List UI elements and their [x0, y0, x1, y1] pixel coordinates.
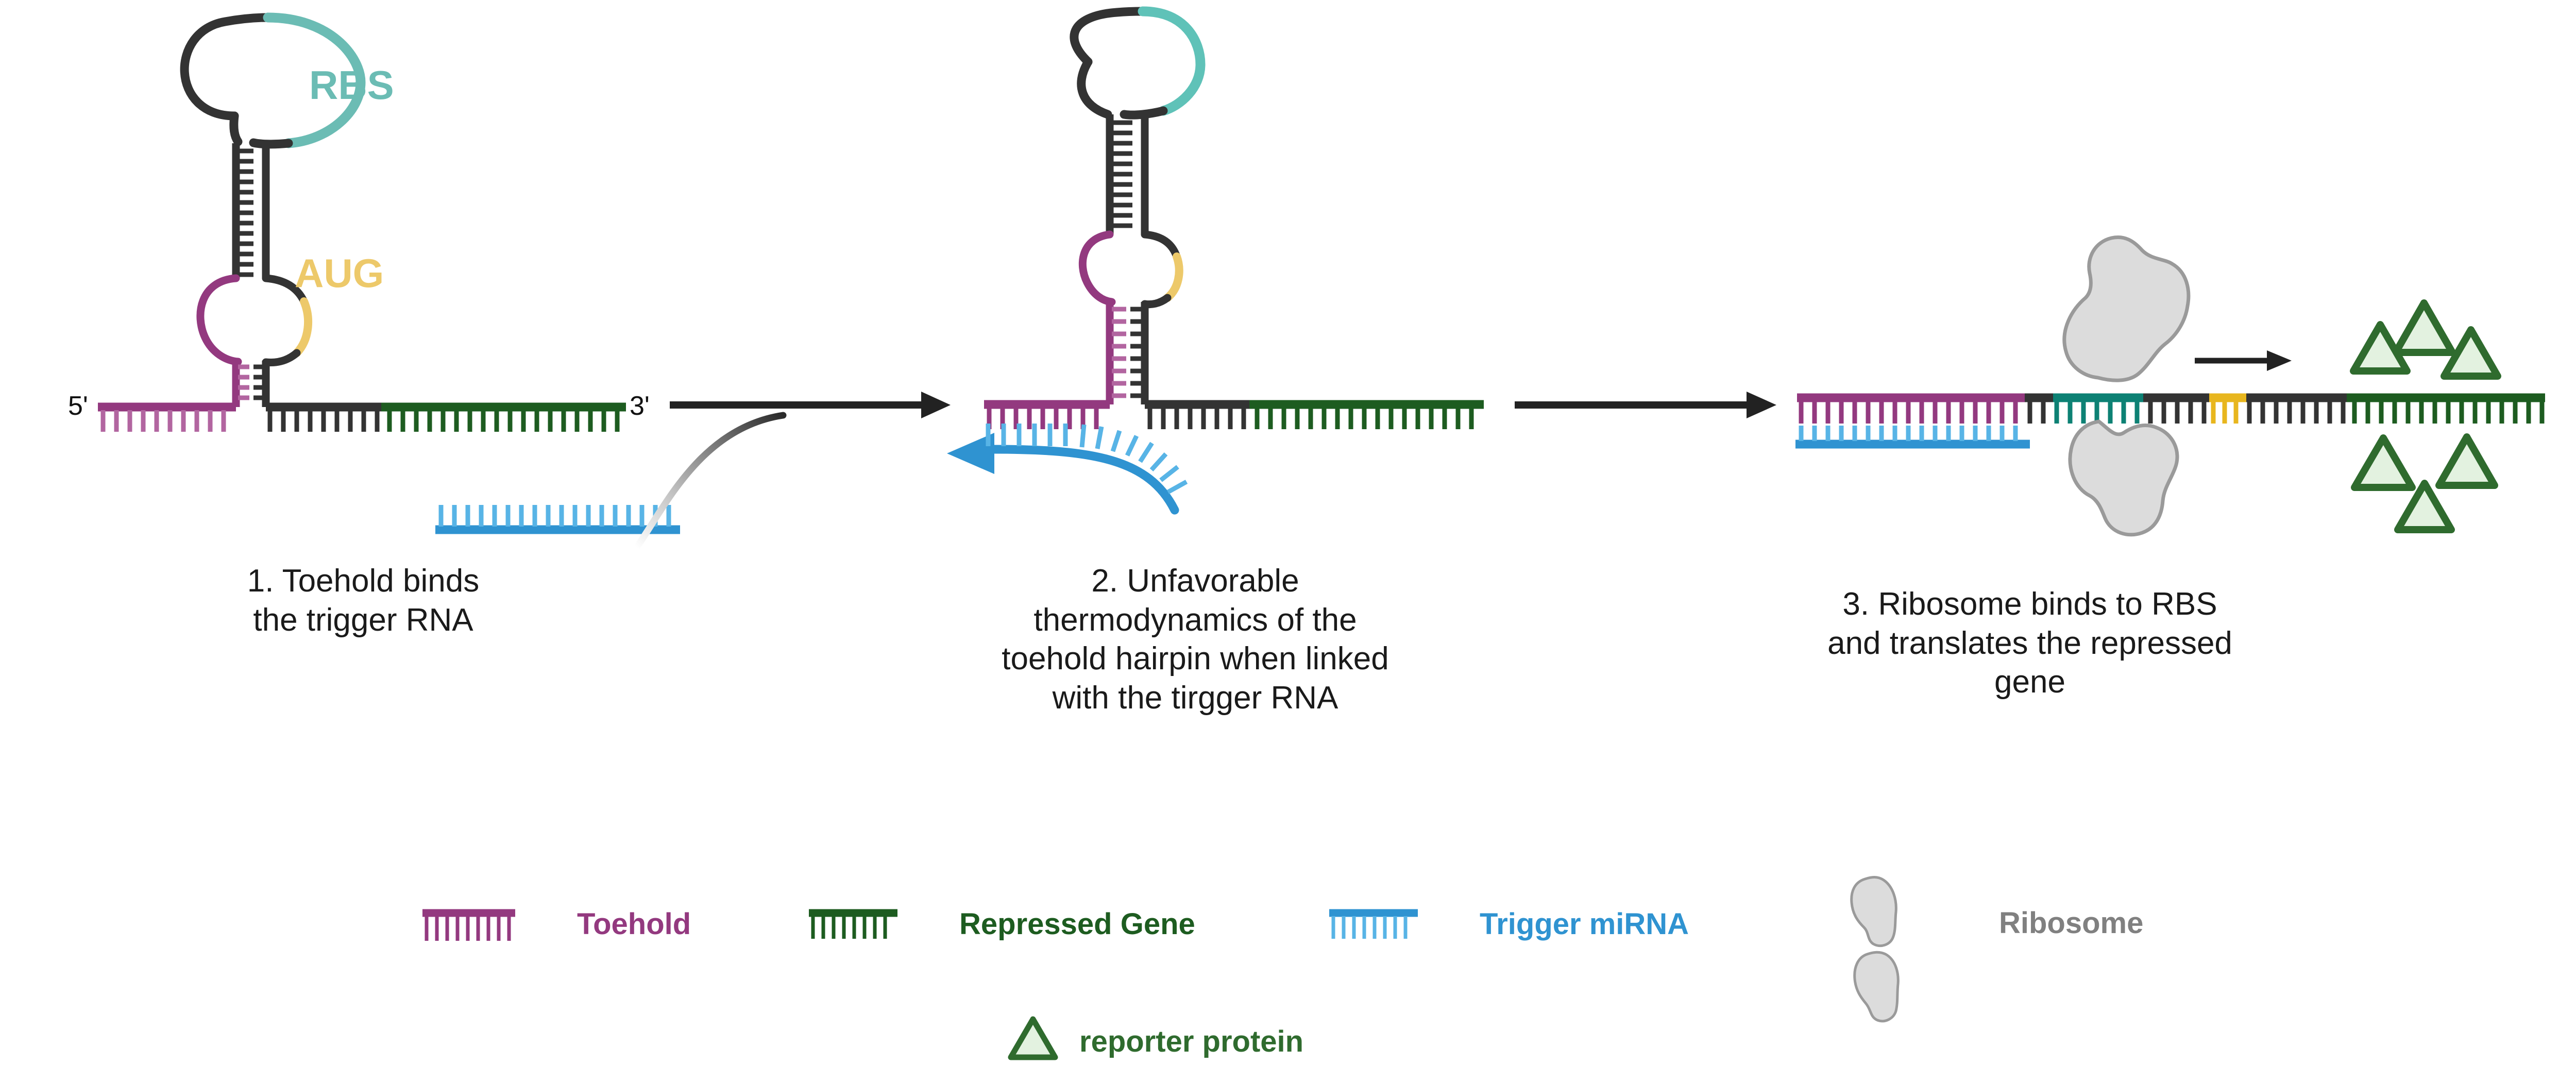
aug-label: AUG: [295, 250, 384, 297]
ribosome-icon: [2064, 237, 2189, 534]
panel1-free-trigger-mirna: [435, 505, 680, 530]
p2-aug-yellow: [1167, 257, 1179, 298]
repressed-gene-teeth: [389, 410, 617, 432]
p2-rbs-teal-arc: [1143, 11, 1200, 111]
three-prime-label: 3': [630, 391, 650, 421]
legend-swatch-ribosome: [1852, 877, 1899, 1021]
arrow-step-1-to-2: [670, 392, 951, 418]
p2-lower-stem-duplex: [1110, 302, 1145, 404]
panel-3-caption: 3. Ribosome binds to RBS and translates …: [1752, 585, 2308, 702]
top-loop-black-arc-lower: [234, 116, 238, 142]
legend-swatch-reporter-protein: [1011, 1019, 1055, 1057]
legend-label-toehold: Toehold: [577, 907, 691, 941]
upper-stem-duplex: [236, 143, 266, 278]
arrow-step-2-to-3: [1515, 392, 1776, 418]
legend-label-reporter-protein: reporter protein: [1079, 1024, 1303, 1059]
aug-yellow-arc: [297, 301, 308, 353]
p2-upper-stem-duplex: [1110, 114, 1145, 234]
panel-2-caption: 2. Unfavorable thermodynamics of the toe…: [943, 562, 1448, 718]
p2-bulge-black-top: [1145, 234, 1177, 257]
panel3-top-strand: [1797, 398, 2545, 424]
bulge-loop-black-bottom: [266, 353, 297, 363]
p2-top-loop-black-arc: [1074, 11, 1143, 62]
diagram-artwork: [0, 0, 2576, 1082]
panel3-bound-trigger: [1795, 426, 2030, 444]
panel1-horizontal-strand: [98, 407, 626, 432]
legend-swatch-repressed-gene: [809, 913, 897, 939]
panel2-horizontal-strand: [984, 404, 1484, 429]
toehold-teeth: [103, 410, 224, 432]
legend-swatch-toehold: [422, 913, 515, 941]
reporter-protein-triangle: [2354, 438, 2412, 487]
legend-label-ribosome: Ribosome: [1999, 906, 2143, 940]
diagram-canvas: RBS AUG 5' 3' 1. Toehold binds the trigg…: [0, 0, 2576, 1082]
legend-label-repressed-gene: Repressed Gene: [959, 907, 1195, 941]
reporter-protein-triangle: [2396, 303, 2452, 352]
panel2-trigger-mirna-curve: [947, 424, 1187, 510]
p2-bulge-purple: [1082, 234, 1112, 302]
panel-1-hairpin: [98, 18, 783, 547]
p3-toehold-teeth: [1801, 401, 2015, 424]
rbs-label: RBS: [309, 62, 394, 109]
p2-top-loop-black-arc-lower: [1081, 62, 1108, 114]
arrow-translation-output: [2195, 350, 2292, 371]
legend-label-trigger-mirna: Trigger miRNA: [1480, 907, 1689, 941]
panel-3-open-complex: [1795, 237, 2545, 534]
panel-1-caption: 1. Toehold binds the trigger RNA: [131, 562, 595, 639]
lower-stem-duplex: [236, 361, 266, 407]
reporter-protein-triangle: [2439, 437, 2495, 485]
p2-top-loop-black-foot: [1124, 111, 1163, 115]
p3-gene-teeth: [2354, 401, 2542, 424]
top-loop-black-arc-right-foot: [253, 143, 289, 144]
panel-2-hairpin: [947, 11, 1484, 510]
five-prime-label: 5': [68, 391, 88, 421]
top-loop-black-arc: [184, 18, 268, 116]
linker-teeth: [270, 410, 377, 432]
bulge-loop-purple-arc: [200, 278, 238, 362]
legend-swatch-trigger-mirna: [1329, 913, 1418, 939]
p3-aug-teeth: [2213, 401, 2236, 424]
